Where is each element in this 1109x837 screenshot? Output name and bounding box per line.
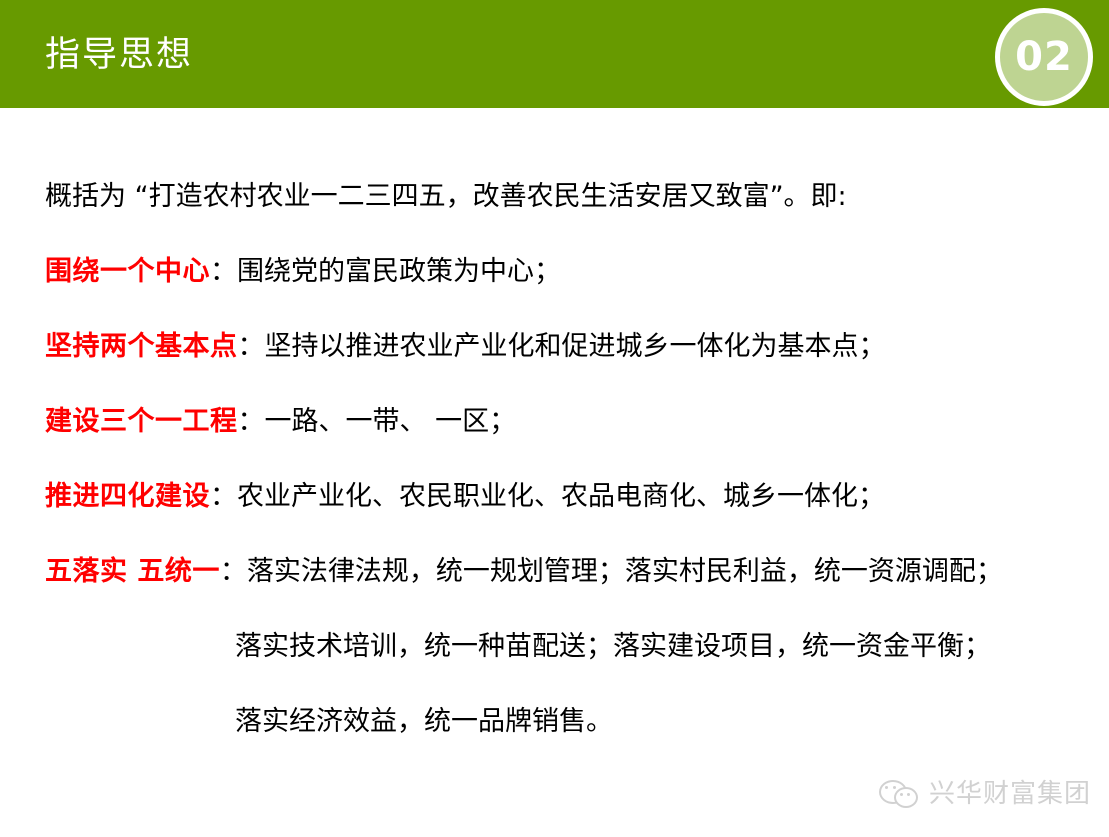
continuation-line: 落实技术培训，统一种苗配送；落实建设项目，统一资金平衡； [235,630,991,664]
item-text: 落实法律法规，统一规划管理；落实村民利益，统一资源调配； [247,556,1003,587]
slide: 指导思想 02 概括为 “打造农村农业一二三四五，改善农民生活安居又致富”。即:… [0,0,1109,837]
item-separator: ： [210,481,237,512]
item-label: 推进四化建设 [45,481,210,512]
list-item: 推进四化建设：农业产业化、农民职业化、农品电商化、城乡一体化； [45,480,885,514]
item-text: 一路、一带、 一区； [265,406,517,437]
list-item: 围绕一个中心：围绕党的富民政策为中心； [45,255,561,289]
list-item: 五落实 五统一：落实法律法规，统一规划管理；落实村民利益，统一资源调配； [45,555,1003,589]
header-banner: 指导思想 02 [0,0,1109,108]
wechat-eye-dot [900,793,903,796]
item-separator: ： [220,556,247,587]
list-item: 建设三个一工程：一路、一带、 一区； [45,405,516,439]
footer-watermark: 兴华财富集团 [879,779,1091,809]
item-text: 农业产业化、农民职业化、农品电商化、城乡一体化； [237,481,885,512]
wechat-eye-dot [907,793,910,796]
intro-text: 概括为 “打造农村农业一二三四五，改善农民生活安居又致富”。即: [45,181,847,212]
continuation-text: 落实经济效益，统一品牌销售。 [235,706,613,737]
page-title: 指导思想 [45,33,193,77]
item-separator: ： [238,406,265,437]
item-label: 坚持两个基本点 [45,331,238,362]
continuation-line: 落实经济效益，统一品牌销售。 [235,705,613,739]
item-label: 建设三个一工程 [45,406,238,437]
wechat-eye-dot [885,786,888,789]
section-number: 02 [1015,37,1073,77]
section-number-badge: 02 [995,8,1093,106]
intro-line: 概括为 “打造农村农业一二三四五，改善农民生活安居又致富”。即: [45,180,847,214]
wechat-bubble-small [894,787,918,808]
item-separator: ： [210,256,237,287]
continuation-text: 落实技术培训，统一种苗配送；落实建设项目，统一资金平衡； [235,631,991,662]
item-text: 坚持以推进农业产业化和促进城乡一体化为基本点； [265,331,886,362]
item-separator: ： [238,331,265,362]
item-label: 围绕一个中心 [45,256,210,287]
wechat-icon [879,779,919,809]
watermark-label: 兴华财富集团 [929,779,1091,809]
item-label: 五落实 五统一 [45,556,220,587]
list-item: 坚持两个基本点：坚持以推进农业产业化和促进城乡一体化为基本点； [45,330,886,364]
item-text: 围绕党的富民政策为中心； [237,256,561,287]
wechat-eye-dot [893,786,896,789]
content-area: 概括为 “打造农村农业一二三四五，改善农民生活安居又致富”。即: 围绕一个中心：… [0,108,1109,768]
